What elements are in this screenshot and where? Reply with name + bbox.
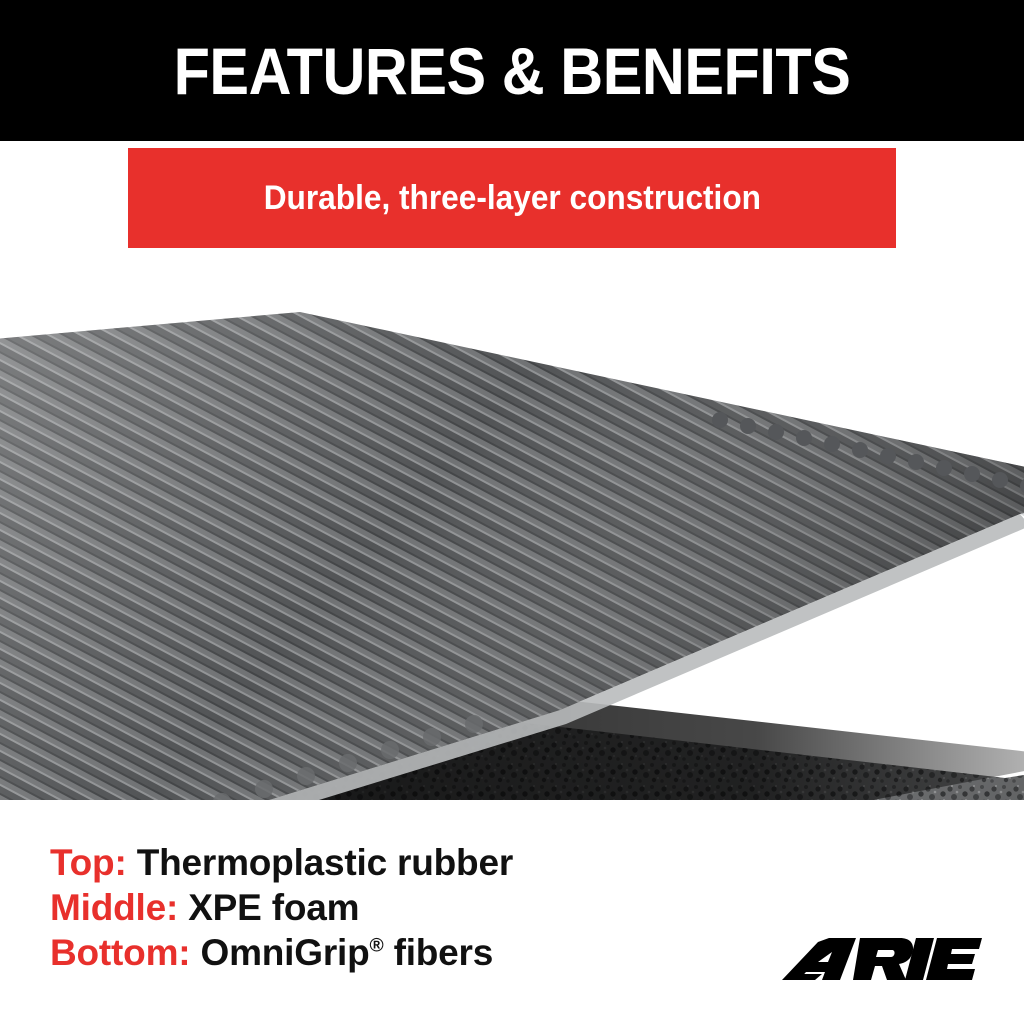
caption-value-bottom-suffix: fibers [384, 932, 494, 973]
caption-value-bottom: OmniGrip [200, 932, 369, 973]
caption-line-top: Top: Thermoplastic rubber [50, 840, 750, 885]
page-title: FEATURES & BENEFITS [51, 0, 973, 141]
logo-registered-icon: ® [973, 938, 979, 946]
subtitle-banner: Durable, three-layer construction [128, 148, 896, 248]
caption-key-top: Top: [50, 842, 127, 883]
aries-logo: ® [782, 928, 982, 990]
header-bar: FEATURES & BENEFITS [0, 0, 1024, 141]
product-layer-top [0, 312, 1024, 800]
caption-value-middle: XPE foam [188, 887, 359, 928]
caption-key-middle: Middle: [50, 887, 178, 928]
product-image [0, 300, 1024, 800]
caption-line-bottom: Bottom: OmniGrip® fibers [50, 930, 750, 975]
caption-key-bottom: Bottom: [50, 932, 190, 973]
three-layer-cutaway-illustration [0, 300, 1024, 800]
infographic-page: FEATURES & BENEFITS Durable, three-layer… [0, 0, 1024, 1024]
aries-logo-mark: ® [782, 928, 982, 990]
caption-block: Top: Thermoplastic rubber Middle: XPE fo… [50, 840, 750, 975]
subtitle-text: Durable, three-layer construction [263, 181, 760, 215]
caption-line-middle: Middle: XPE foam [50, 885, 750, 930]
caption-value-top: Thermoplastic rubber [137, 842, 513, 883]
registered-trademark-icon: ® [370, 936, 384, 957]
